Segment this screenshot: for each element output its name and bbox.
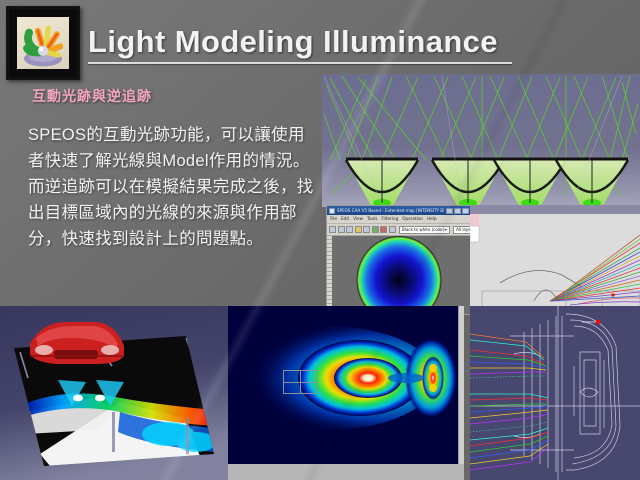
speos-logo [6, 6, 80, 80]
zoom-icon[interactable] [346, 226, 353, 233]
app-icon [329, 208, 335, 214]
beam-heatmap-image [228, 306, 458, 464]
measure-icon[interactable] [372, 226, 379, 233]
car-front [30, 322, 124, 364]
menu-item-edit[interactable]: Edit [341, 215, 349, 223]
panel-ray-trace [322, 74, 640, 207]
close-button[interactable] [462, 208, 469, 214]
grid-icon[interactable] [363, 226, 370, 233]
reverse-ray-illustration [470, 205, 640, 308]
save-icon[interactable] [329, 226, 336, 233]
section-icon[interactable] [389, 226, 396, 233]
intensity-map [327, 236, 471, 315]
page-title: Light Modeling Illuminance [88, 22, 518, 64]
window-controls[interactable] [446, 208, 469, 214]
window-title: SPEOS CAA V5 Based - Extended map [INTEN… [337, 208, 444, 214]
menu-item-help[interactable]: Help [427, 215, 437, 223]
toolbar[interactable]: Black to white (color) ▾ All layers [327, 224, 471, 236]
minimize-button[interactable] [446, 208, 453, 214]
slide-canvas: Light Modeling Illuminance 互動光跡與逆追跡 SPEO… [0, 0, 640, 480]
window-titlebar[interactable]: SPEOS CAA V5 Based - Extended map [INTEN… [327, 206, 471, 215]
menu-item-file[interactable]: File [330, 215, 337, 223]
panel-headlamp-wireframe [470, 306, 640, 480]
road-illuminance-illustration [0, 306, 228, 480]
menu-item-filtering[interactable]: Filtering [381, 215, 398, 223]
chevron-down-icon: ▾ [445, 226, 447, 234]
ray-trace-illustration [322, 74, 640, 207]
maximize-button[interactable] [454, 208, 461, 214]
title-underline [88, 62, 512, 64]
beam-pattern-falsecolor [228, 306, 458, 464]
palette-select[interactable]: Black to white (color) ▾ [399, 226, 450, 234]
body-paragraph: SPEOS的互動光跡功能，可以讓使用者快速了解光線與Model作用的情況。而逆追… [28, 122, 318, 252]
section-subheading: 互動光跡與逆追跡 [32, 86, 302, 106]
panel-road-illuminance [0, 306, 228, 480]
open-icon[interactable] [338, 226, 345, 233]
menu-bar[interactable]: File Edit View Tools Filtering Operation… [327, 215, 471, 224]
vertical-ruler [327, 236, 332, 315]
detector-map-canvas [327, 236, 471, 315]
filter-icon[interactable] [380, 226, 387, 233]
panel-detector-window[interactable]: SPEOS CAA V5 Based - Extended map [INTEN… [326, 205, 472, 315]
headlamp-wireframe-illustration [470, 306, 640, 480]
logo-rays-icon [17, 17, 69, 69]
beam-panel-frame [458, 306, 464, 464]
logo-artwork [17, 17, 69, 69]
panel-beam-heatmap [228, 306, 464, 480]
measurement-grid-overlay [283, 370, 317, 394]
menu-item-tools[interactable]: Tools [367, 215, 377, 223]
palette-icon[interactable] [355, 226, 362, 233]
menu-item-view[interactable]: View [353, 215, 363, 223]
menu-item-operation[interactable]: Operation [402, 215, 423, 223]
panel-reverse-ray-cad [470, 205, 640, 308]
